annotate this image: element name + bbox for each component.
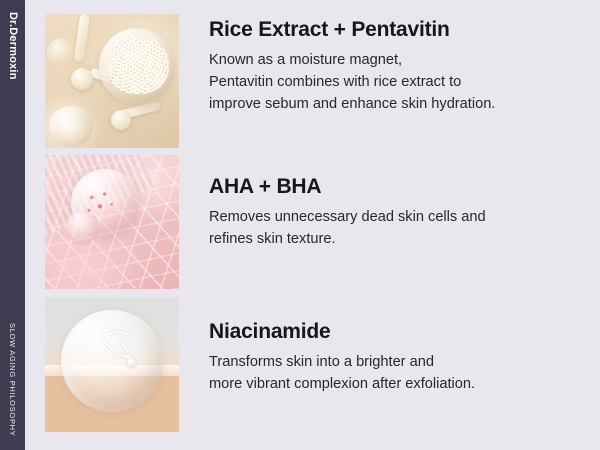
- brand-rail: Dr.Dermoxin SLOW AGING PHILOSOPHY: [0, 0, 25, 450]
- ingredient-heading: AHA + BHA: [209, 175, 600, 199]
- water-droplet-icon: [49, 106, 93, 148]
- ingredient-row: AHA + BHA Removes unnecessary dead skin …: [45, 155, 600, 289]
- ingredient-description: Known as a moisture magnet, Pentavitin c…: [209, 50, 600, 116]
- ingredient-description: Removes unnecessary dead skin cells and …: [209, 207, 600, 251]
- water-droplet-icon: [47, 38, 75, 68]
- gel-strand-icon: [74, 14, 91, 62]
- aha-bha-image-art: [45, 155, 179, 289]
- droplet-node-icon: [71, 68, 93, 90]
- droplet-node-icon: [111, 110, 131, 130]
- niacinamide-image-art: [45, 298, 179, 432]
- exfoliant-particles-icon: [85, 189, 119, 217]
- ingredient-list: Rice Extract + Pentavitin Known as a moi…: [45, 14, 600, 450]
- ingredient-row: Niacinamide Transforms skin into a brigh…: [45, 298, 600, 432]
- ingredient-heading: Niacinamide: [209, 320, 600, 344]
- rice-extract-image-art: [45, 14, 179, 148]
- ingredient-text: Niacinamide Transforms skin into a brigh…: [179, 298, 600, 396]
- niacinamide-ingredient-image: [45, 298, 179, 432]
- ingredient-description: Transforms skin into a brighter and more…: [209, 352, 600, 396]
- rice-grains-icon: [107, 36, 169, 94]
- ingredient-text: AHA + BHA Removes unnecessary dead skin …: [179, 155, 600, 251]
- brand-name: Dr.Dermoxin: [0, 12, 25, 80]
- ingredient-benefits-slide: Dr.Dermoxin SLOW AGING PHILOSOPHY: [0, 0, 600, 450]
- molecule-diagram-icon: [91, 324, 143, 374]
- rice-extract-ingredient-image: [45, 14, 179, 148]
- ingredient-row: Rice Extract + Pentavitin Known as a moi…: [45, 14, 600, 148]
- content-area: Rice Extract + Pentavitin Known as a moi…: [25, 0, 600, 450]
- aha-bha-ingredient-image: [45, 155, 179, 289]
- brand-tagline: SLOW AGING PHILOSOPHY: [0, 323, 25, 436]
- ingredient-heading: Rice Extract + Pentavitin: [209, 18, 600, 42]
- ingredient-text: Rice Extract + Pentavitin Known as a moi…: [179, 14, 600, 116]
